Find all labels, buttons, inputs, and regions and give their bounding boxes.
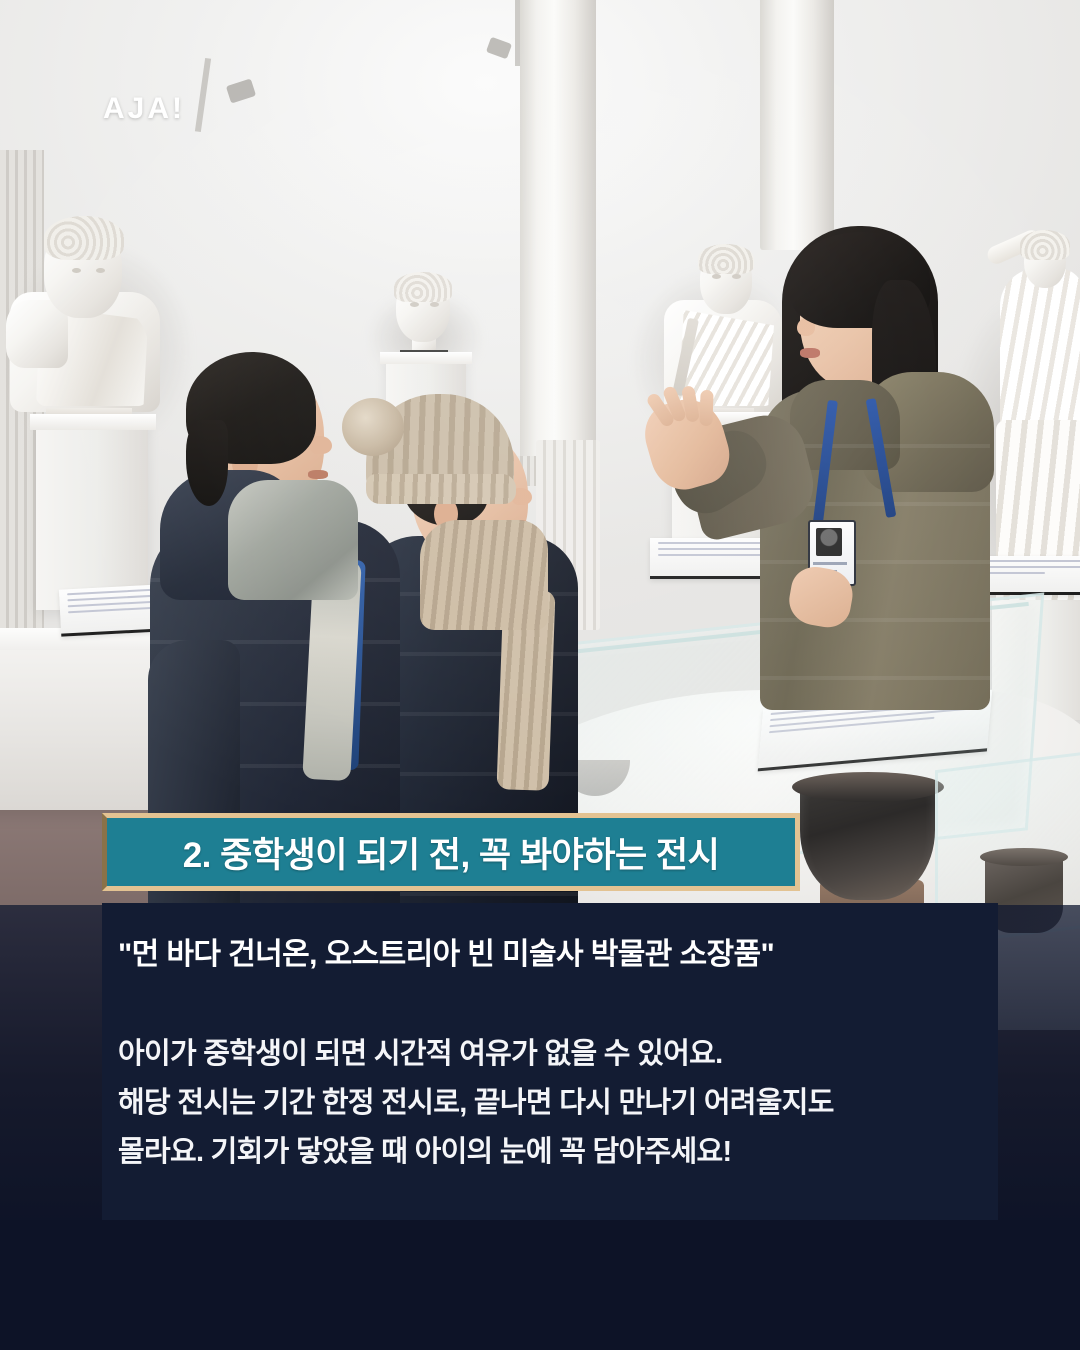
section-text-panel: "먼 바다 건너온, 오스트리아 빈 미술사 박물관 소장품" 아이가 중학생이… (102, 903, 998, 1220)
bust-left-eye-l (72, 268, 81, 273)
pottery-bowl-rim (792, 772, 944, 802)
body-line-2: 해당 전시는 기간 한정 전시로, 끝나면 다시 만나기 어려울지도 (118, 1079, 834, 1128)
column-center (520, 0, 596, 460)
bust-left-eye-r (96, 268, 105, 273)
boy-left-arm (148, 640, 240, 940)
statue-right-hair (1020, 230, 1070, 260)
boy-left-nose (310, 436, 332, 454)
docent-lips (800, 348, 820, 358)
bust-center-eye-r (430, 302, 439, 307)
boy-left-hair-side (186, 420, 228, 506)
section-title-bar: 2. 중학생이 되기 전, 꼭 봐야하는 전시 (102, 813, 800, 891)
post-canvas: AJA! 2. 중학생이 되기 전, 꼭 봐야하는 전시 "먼 바다 건너온, … (0, 0, 1080, 1350)
bust-center-hair (394, 272, 452, 302)
boy-left-lips (308, 470, 328, 479)
bust-left-hair (44, 216, 124, 260)
boy-right-scarf (420, 520, 548, 630)
bottom-solid-band (0, 1220, 1080, 1350)
section-body: 아이가 중학생이 되면 시간적 여유가 없을 수 있어요. 해당 전시는 기간 … (118, 1030, 834, 1177)
boy-right-beanie-pom (342, 398, 404, 456)
docent-id-badge-line-1 (813, 562, 847, 565)
body-line-1: 아이가 중학생이 되면 시간적 여유가 없을 수 있어요. (118, 1030, 834, 1079)
boy-left-scarf (228, 480, 358, 600)
brand-logo: AJA! (103, 92, 185, 126)
pedestal-center-top (380, 352, 472, 364)
bust-right-hair (698, 244, 754, 274)
section-title: 2. 중학생이 되기 전, 꼭 봐야하는 전시 (183, 827, 720, 878)
docent-id-badge-photo (816, 528, 842, 556)
bust-right-eye-l (712, 274, 721, 279)
bust-center-eye-l (410, 302, 419, 307)
docent-finger-4 (699, 390, 713, 426)
body-line-3: 몰라요. 기회가 닿았을 때 아이의 눈에 꼭 담아주세요! (118, 1128, 834, 1177)
bust-right-eye-r (732, 274, 741, 279)
pedestal-left-top (30, 414, 156, 430)
pottery-small-rim (980, 848, 1068, 866)
column-right (760, 0, 834, 250)
pedestal-left (36, 420, 148, 610)
ceiling-track-2 (515, 0, 520, 66)
section-subtitle: "먼 바다 건너온, 오스트리아 빈 미술사 박물관 소장품" (118, 929, 774, 973)
boy-right-beanie-brim (366, 474, 516, 504)
